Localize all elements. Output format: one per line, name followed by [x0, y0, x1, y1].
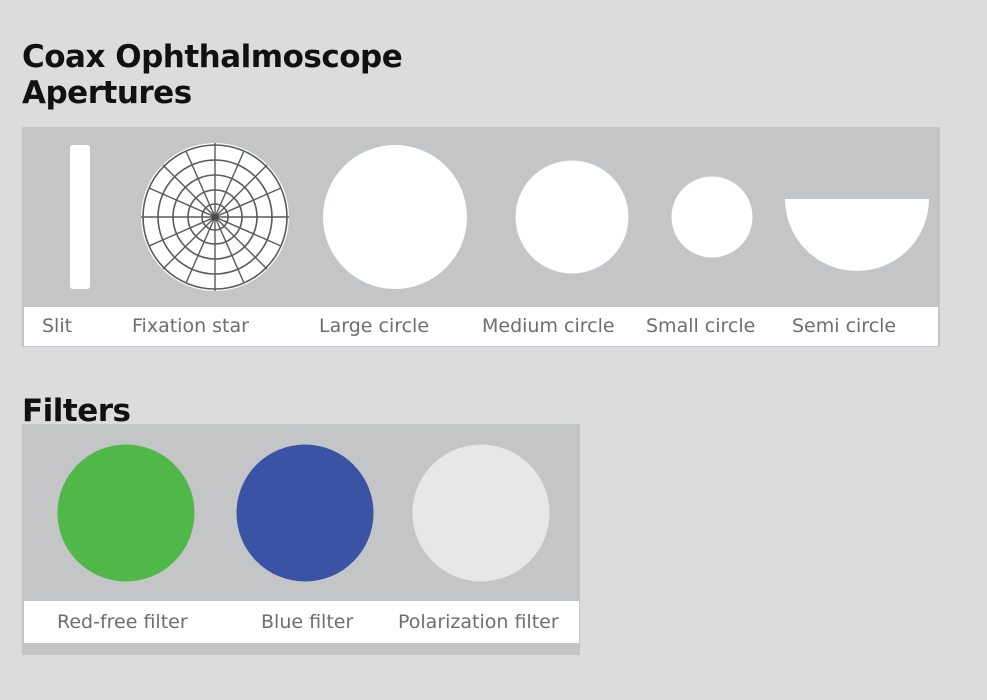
- filter-label-blue: Blue filter: [261, 601, 353, 643]
- large-circle-shape-icon: [323, 145, 467, 289]
- filter-cell-blue[interactable]: [210, 424, 400, 601]
- filter-label-red-free: Red-free filter: [57, 601, 188, 643]
- red-free-filter-disc-icon: [57, 444, 194, 581]
- fixation-star-shape-icon: [141, 143, 289, 291]
- page-title: Coax Ophthalmoscope Apertures: [22, 39, 622, 112]
- aperture-label-semi-circle: Semi circle: [792, 307, 896, 346]
- slit-shape-icon: [70, 145, 90, 289]
- aperture-cell-semi-circle[interactable]: [774, 127, 940, 307]
- small-circle-shape-icon: [672, 177, 753, 258]
- aperture-label-medium-circle: Medium circle: [482, 307, 615, 346]
- aperture-label-fixation-star: Fixation star: [132, 307, 249, 346]
- polarization-filter-disc-icon: [413, 444, 550, 581]
- aperture-cell-medium-circle[interactable]: [494, 127, 650, 307]
- aperture-cell-small-circle[interactable]: [650, 127, 774, 307]
- aperture-cell-fixation-star[interactable]: [137, 127, 292, 307]
- page-title-line-1: Coax Ophthalmoscope: [22, 39, 622, 76]
- filters-panel: Red-free filter Blue filter Polarization…: [22, 424, 580, 655]
- aperture-label-small-circle: Small circle: [646, 307, 755, 346]
- filter-cell-polarization[interactable]: [384, 424, 578, 601]
- page-title-line-2: Apertures: [22, 75, 622, 112]
- apertures-figure-row: [22, 127, 940, 307]
- filters-label-band: Red-free filter Blue filter Polarization…: [24, 601, 579, 643]
- aperture-label-large-circle: Large circle: [319, 307, 429, 346]
- aperture-cell-slit[interactable]: [22, 127, 137, 307]
- blue-filter-disc-icon: [237, 444, 374, 581]
- filter-label-polarization: Polarization filter: [398, 601, 559, 643]
- apertures-label-band: Slit Fixation star Large circle Medium c…: [24, 307, 938, 346]
- filter-cell-red-free[interactable]: [22, 424, 229, 601]
- semi-circle-shape-icon: [785, 199, 929, 271]
- aperture-cell-large-circle[interactable]: [302, 127, 488, 307]
- apertures-panel: Slit Fixation star Large circle Medium c…: [22, 127, 940, 347]
- medium-circle-shape-icon: [516, 161, 629, 274]
- filters-figure-row: [22, 424, 580, 601]
- aperture-label-slit: Slit: [42, 307, 72, 346]
